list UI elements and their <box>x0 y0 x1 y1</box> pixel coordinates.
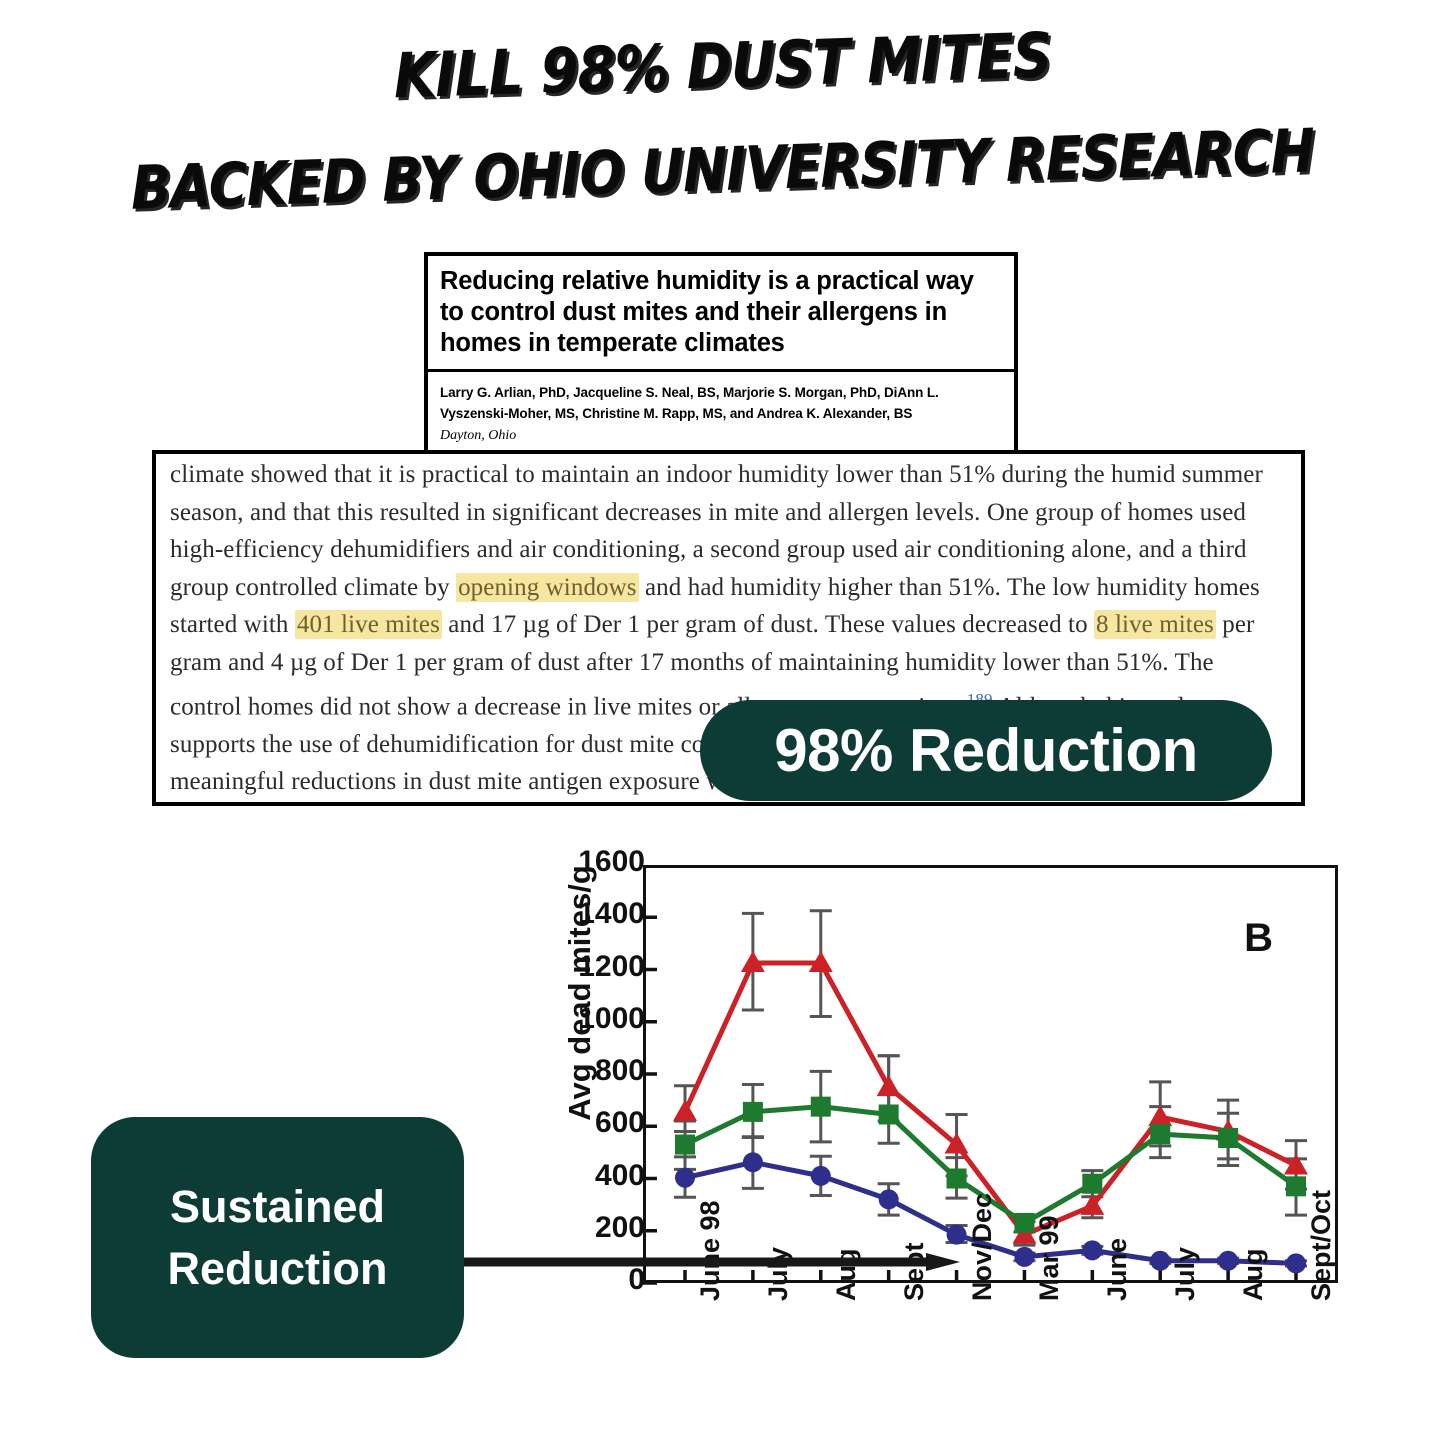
badge-sustained-line-1: Sustained <box>168 1176 388 1238</box>
pointer-arrow-icon <box>420 1253 960 1271</box>
highlight-8-live-mites: 8 live mites <box>1094 610 1216 639</box>
badge-98-label: 98% Reduction <box>774 716 1198 785</box>
chart-x-tick: Aug <box>1238 1249 1269 1301</box>
chart-x-tick: Sept <box>899 1242 930 1301</box>
badge-98-reduction: 98% Reduction <box>700 700 1272 801</box>
chart-series-layer <box>490 845 1370 1445</box>
body-seg-3: and 17 µg of Der 1 per gram of dust. The… <box>442 611 1094 638</box>
highlight-opening-windows: opening windows <box>456 573 639 602</box>
paper-city: Dayton, Ohio <box>428 428 1014 452</box>
chart-x-tick: July <box>1170 1247 1201 1301</box>
chart-x-tick: Nov/Dec <box>967 1193 998 1301</box>
highlight-401-live-mites: 401 live mites <box>295 610 442 639</box>
chart-x-tick: June 98 <box>695 1200 726 1301</box>
chart-x-tick: Sept/Oct <box>1306 1190 1337 1301</box>
paper-title-card: Reducing relative humidity is a practica… <box>424 252 1018 456</box>
badge-sustained-reduction: Sustained Reduction <box>91 1117 464 1358</box>
headline-block: KILL 98% DUST MITES BACKED BY OHIO UNIVE… <box>0 14 1445 222</box>
dust-mite-line-chart: Avg dead mites/g 02004006008001000120014… <box>490 845 1370 1445</box>
chart-x-tick: Mar 99 <box>1034 1215 1065 1301</box>
badge-sustained-line-2: Reduction <box>168 1238 388 1300</box>
paper-title: Reducing relative humidity is a practica… <box>428 256 1014 372</box>
paper-authors: Larry G. Arlian, PhD, Jacqueline S. Neal… <box>428 372 1014 428</box>
chart-x-tick: June <box>1102 1238 1133 1301</box>
